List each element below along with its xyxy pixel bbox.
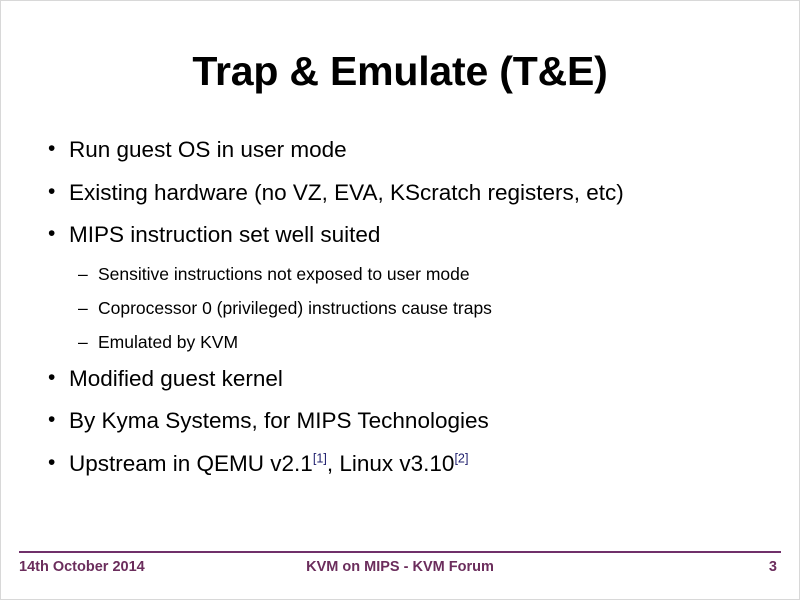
footer-page-number: 3 <box>769 557 777 577</box>
bullet-item-with-footnotes: •Upstream in QEMU v2.1[1], Linux v3.10[2… <box>47 451 767 477</box>
bullet-text-part1: Upstream in QEMU v2.1 <box>69 451 313 476</box>
bullet-text: Run guest OS in user mode <box>69 137 347 162</box>
footnote-ref-2[interactable]: [2] <box>454 451 468 465</box>
footer-divider <box>19 551 781 553</box>
bullet-marker-icon: • <box>48 450 55 476</box>
bullet-text: Modified guest kernel <box>69 366 283 391</box>
footer-title: KVM on MIPS - KVM Forum <box>19 557 781 577</box>
sub-bullet-text: Sensitive instructions not exposed to us… <box>98 264 470 284</box>
dash-marker-icon: – <box>78 298 88 319</box>
bullet-text: By Kyma Systems, for MIPS Technologies <box>69 408 489 433</box>
bullet-item: • Existing hardware (no VZ, EVA, KScratc… <box>47 180 767 206</box>
slide-title: Trap & Emulate (T&E) <box>1 47 799 95</box>
bullet-item: • Run guest OS in user mode <box>47 137 767 163</box>
bullet-item: • MIPS instruction set well suited <box>47 222 767 248</box>
slide-body: • Run guest OS in user mode • Existing h… <box>47 137 767 493</box>
footnote-ref-1[interactable]: [1] <box>313 451 327 465</box>
sub-bullet-text: Coprocessor 0 (privileged) instructions … <box>98 298 492 318</box>
sub-bullet-text: Emulated by KVM <box>98 332 238 352</box>
slide-footer: 14th October 2014 KVM on MIPS - KVM Foru… <box>19 557 781 579</box>
bullet-text: MIPS instruction set well suited <box>69 222 380 247</box>
bullet-marker-icon: • <box>48 136 55 162</box>
bullet-list: • Run guest OS in user mode • Existing h… <box>47 137 767 477</box>
bullet-marker-icon: • <box>48 365 55 391</box>
bullet-text: Existing hardware (no VZ, EVA, KScratch … <box>69 180 624 205</box>
bullet-item: • Modified guest kernel <box>47 366 767 392</box>
bullet-marker-icon: • <box>48 179 55 205</box>
dash-marker-icon: – <box>78 264 88 285</box>
sub-bullet-list: – Sensitive instructions not exposed to … <box>47 264 767 353</box>
sub-bullet-item: – Coprocessor 0 (privileged) instruction… <box>47 298 767 319</box>
presentation-slide: Trap & Emulate (T&E) • Run guest OS in u… <box>0 0 800 600</box>
sub-bullet-item: – Emulated by KVM <box>47 332 767 353</box>
sub-bullet-group: – Sensitive instructions not exposed to … <box>47 264 767 353</box>
dash-marker-icon: – <box>78 332 88 353</box>
bullet-item: • By Kyma Systems, for MIPS Technologies <box>47 408 767 434</box>
sub-bullet-item: – Sensitive instructions not exposed to … <box>47 264 767 285</box>
bullet-marker-icon: • <box>48 221 55 247</box>
bullet-text-part2: , Linux v3.10 <box>327 451 455 476</box>
bullet-marker-icon: • <box>48 407 55 433</box>
